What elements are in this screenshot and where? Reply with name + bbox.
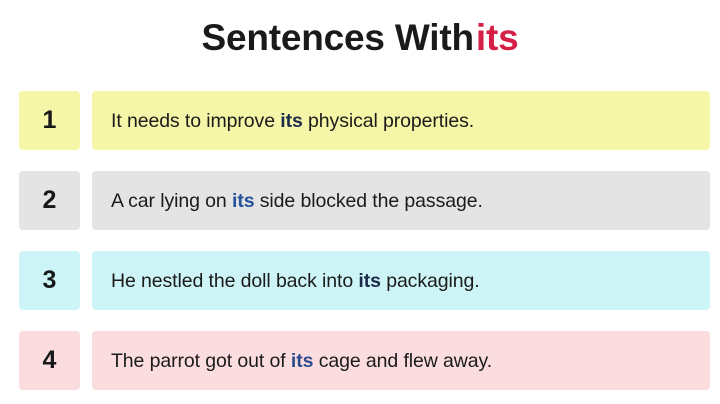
sentence-before: The parrot got out of (111, 350, 291, 372)
row-sentence-box: A car lying on its side blocked the pass… (92, 171, 710, 230)
row-number-label: 2 (43, 188, 57, 213)
sentence-list: 1 It needs to improve its physical prope… (0, 91, 720, 390)
sentence-after: physical properties. (303, 110, 474, 132)
row-sentence-box: It needs to improve its physical propert… (92, 91, 710, 150)
sentence-keyword: its (291, 350, 313, 372)
page-title-main: Sentences With (202, 17, 474, 58)
sentence-keyword: its (232, 190, 254, 212)
row-number-badge: 3 (19, 251, 80, 310)
row-sentence-text: He nestled the doll back into its packag… (111, 268, 480, 294)
row-sentence-text: A car lying on its side blocked the pass… (111, 188, 483, 214)
sentence-examples-page: Sentences Withits 1 It needs to improve … (0, 0, 720, 404)
list-item: 4 The parrot got out of its cage and fle… (0, 331, 720, 390)
row-number-badge: 1 (19, 91, 80, 150)
sentence-after: cage and flew away. (313, 350, 492, 372)
sentence-after: packaging. (381, 270, 480, 292)
sentence-after: side blocked the passage. (254, 190, 482, 212)
row-sentence-box: The parrot got out of its cage and flew … (92, 331, 710, 390)
row-spacer (80, 171, 92, 230)
row-number-label: 1 (43, 108, 57, 133)
page-title: Sentences Withits (0, 14, 720, 62)
row-number-badge: 2 (19, 171, 80, 230)
sentence-before: A car lying on (111, 190, 232, 212)
list-item: 2 A car lying on its side blocked the pa… (0, 171, 720, 230)
row-sentence-box: He nestled the doll back into its packag… (92, 251, 710, 310)
sentence-keyword: its (358, 270, 380, 292)
row-spacer (80, 91, 92, 150)
list-item: 1 It needs to improve its physical prope… (0, 91, 720, 150)
row-sentence-text: It needs to improve its physical propert… (111, 108, 474, 134)
page-title-keyword: its (474, 17, 519, 58)
list-item: 3 He nestled the doll back into its pack… (0, 251, 720, 310)
row-number-label: 4 (43, 348, 57, 373)
row-spacer (80, 251, 92, 310)
row-number-label: 3 (43, 268, 57, 293)
sentence-keyword: its (280, 110, 302, 132)
sentence-before: He nestled the doll back into (111, 270, 358, 292)
row-number-badge: 4 (19, 331, 80, 390)
row-sentence-text: The parrot got out of its cage and flew … (111, 348, 492, 374)
row-spacer (80, 331, 92, 390)
sentence-before: It needs to improve (111, 110, 280, 132)
